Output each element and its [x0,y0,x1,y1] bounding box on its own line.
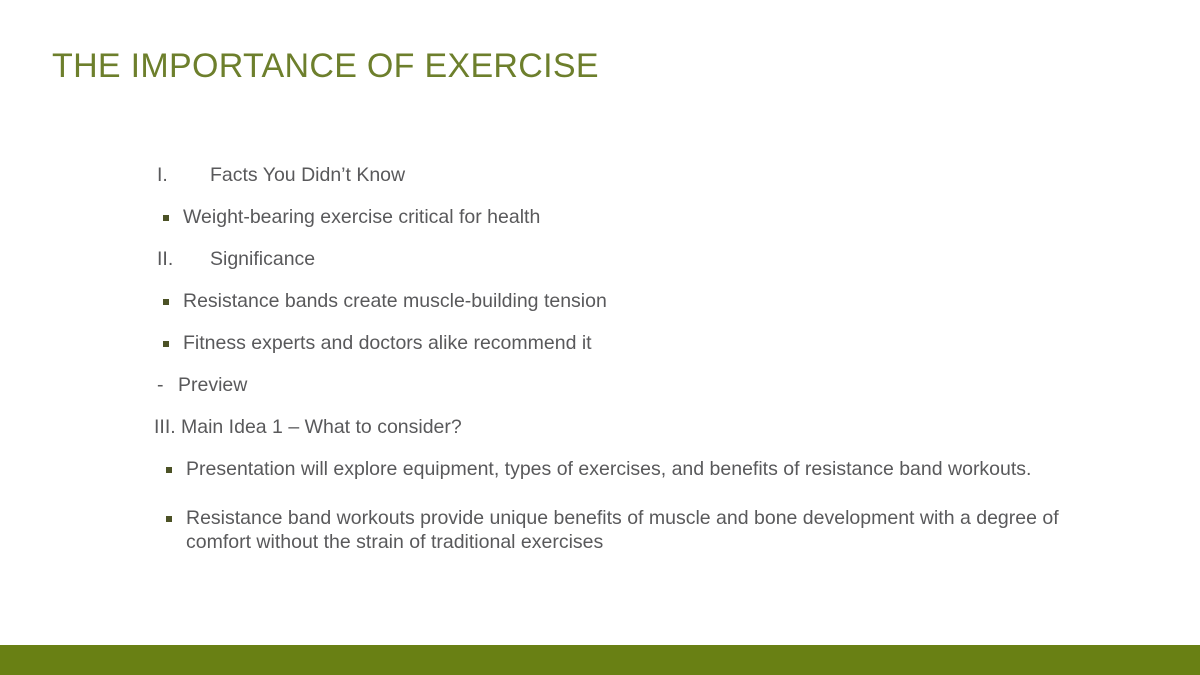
slide-body-content: I. Facts You Didn’t Know Weight-bearing … [152,163,1082,578]
outline-item-5: Fitness experts and doctors alike recomm… [152,331,1082,356]
outline-item-2: Weight-bearing exercise critical for hea… [152,205,1082,230]
outline-item-text: Resistance bands create muscle-building … [183,289,1082,314]
outline-item-text: Weight-bearing exercise critical for hea… [183,205,1082,230]
square-bullet-icon [163,205,183,230]
square-bullet-icon [163,331,183,356]
presentation-slide: THE IMPORTANCE OF EXERCISE I. Facts You … [0,0,1200,675]
outline-item-1: I. Facts You Didn’t Know [152,163,1082,188]
outline-item-8: Presentation will explore equipment, typ… [152,457,1082,482]
dash-bullet-marker: - [157,373,178,398]
outline-item-text: Significance [210,247,1082,272]
outline-item-text: Fitness experts and doctors alike recomm… [183,331,1082,356]
outline-item-text: Resistance band workouts provide unique … [186,506,1082,554]
roman-numeral-marker: II. [157,247,210,272]
outline-item-text: Facts You Didn’t Know [210,163,1082,188]
square-bullet-icon [166,457,186,482]
square-bullet-icon [163,289,183,314]
square-bullet-icon [166,506,186,531]
outline-item-9: Resistance band workouts provide unique … [152,506,1082,554]
outline-item-text: Preview [178,373,1082,398]
outline-item-text: Main Idea 1 – What to consider? [181,415,1082,440]
slide-title: THE IMPORTANCE OF EXERCISE [52,44,599,88]
outline-item-3: II. Significance [152,247,1082,272]
outline-item-text: Presentation will explore equipment, typ… [186,457,1082,481]
outline-item-7: III. Main Idea 1 – What to consider? [152,415,1082,440]
roman-numeral-marker: III. [154,415,181,440]
roman-numeral-marker: I. [157,163,210,188]
outline-item-6: - Preview [152,373,1082,398]
outline-item-4: Resistance bands create muscle-building … [152,289,1082,314]
slide-footer-bar [0,645,1200,675]
